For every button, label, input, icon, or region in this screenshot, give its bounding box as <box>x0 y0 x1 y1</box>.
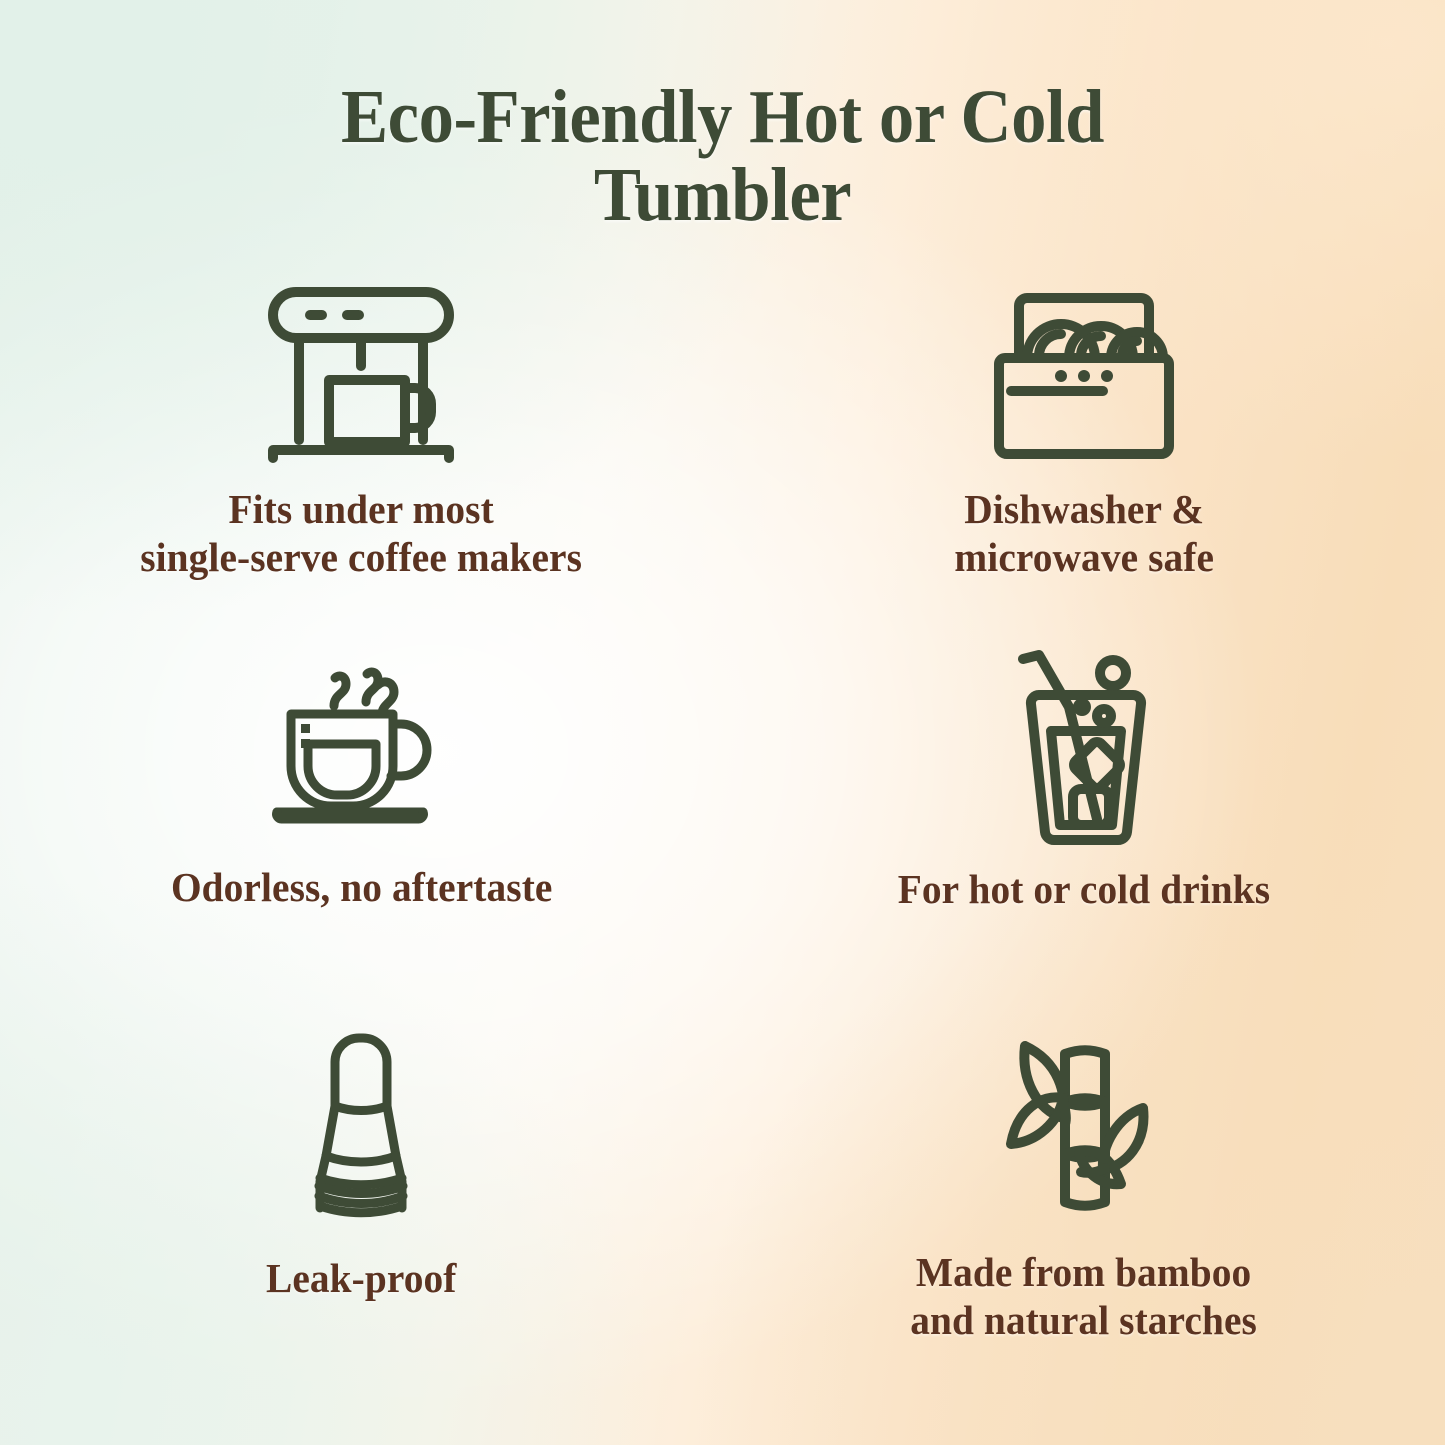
feature-item-dishwasher: Dishwasher & microwave safe <box>723 270 1445 645</box>
feature-caption: Leak-proof <box>239 1255 483 1303</box>
feature-caption-line-1: Fits under most <box>229 486 494 532</box>
feature-caption-line-1: Made from bamboo <box>916 1249 1251 1295</box>
feature-item-bamboo: Made from bamboo and natural starches <box>723 1020 1445 1395</box>
hot-coffee-cup-icon <box>271 645 451 850</box>
feature-caption: Made from bamboo and natural starches <box>883 1249 1283 1345</box>
page-title: Eco-Friendly Hot or Cold Tumbler <box>51 78 1395 235</box>
feature-item-hot-or-cold: For hot or cold drinks <box>723 645 1445 1020</box>
dishwasher-icon <box>991 270 1177 480</box>
page-title-line-1: Eco-Friendly Hot or Cold <box>341 75 1104 159</box>
feature-item-leak-proof: Leak-proof <box>0 1020 723 1395</box>
coffee-machine-icon <box>263 270 459 480</box>
feature-caption-line-1: For hot or cold drinks <box>898 866 1270 912</box>
bamboo-stalk-icon <box>991 1020 1177 1235</box>
feature-caption-line-2: single-serve coffee makers <box>140 534 582 580</box>
feature-caption-line-2: and natural starches <box>910 1297 1257 1343</box>
feature-caption-line-1: Dishwasher & <box>964 486 1204 532</box>
feature-item-coffee-machine: Fits under most single-serve coffee make… <box>0 270 723 645</box>
infographic-page: Eco-Friendly Hot or Cold Tumbler <box>0 0 1445 1445</box>
inverted-tumbler-icon <box>295 1020 427 1235</box>
feature-caption: For hot or cold drinks <box>871 866 1297 914</box>
feature-caption-line-1: Leak-proof <box>266 1255 456 1301</box>
feature-caption-line-1: Odorless, no aftertaste <box>170 864 552 910</box>
feature-caption-line-2: microwave safe <box>954 534 1214 580</box>
feature-grid: Fits under most single-serve coffee make… <box>0 270 1445 1395</box>
feature-caption: Fits under most single-serve coffee make… <box>113 486 609 582</box>
page-title-line-2: Tumbler <box>594 153 851 237</box>
feature-item-odorless: Odorless, no aftertaste <box>0 645 723 1020</box>
cold-drink-glass-icon <box>1001 645 1167 850</box>
feature-caption: Odorless, no aftertaste <box>144 864 579 912</box>
feature-caption: Dishwasher & microwave safe <box>927 486 1240 582</box>
